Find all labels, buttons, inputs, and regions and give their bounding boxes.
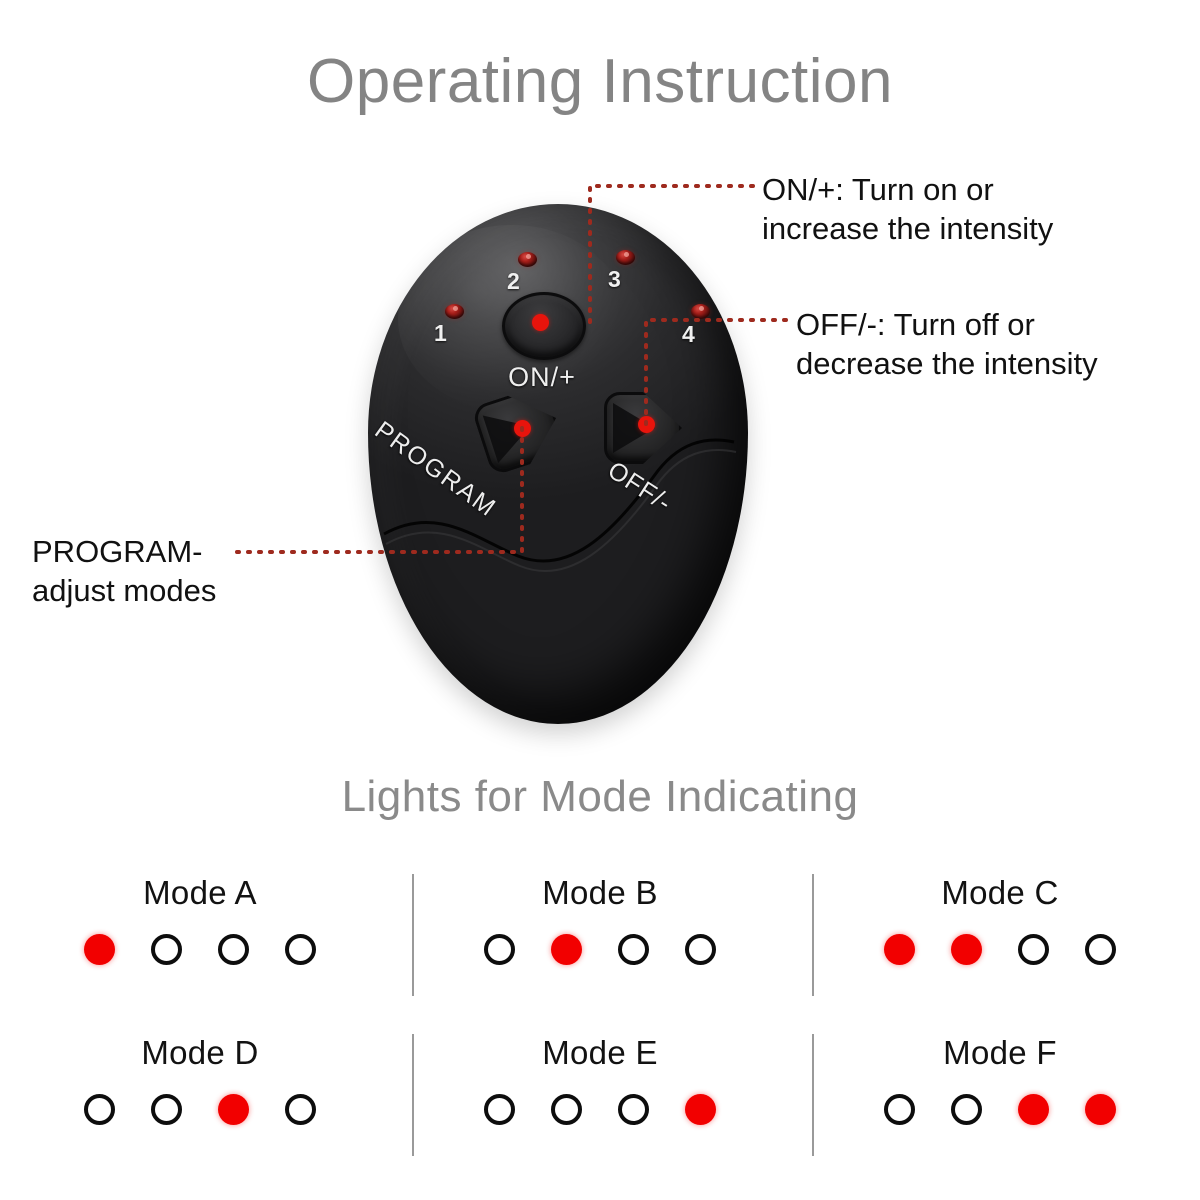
mode-row-1: Mode A Mode B Mode C xyxy=(0,862,1200,1022)
lamp-2 xyxy=(951,934,982,965)
led-number-4: 4 xyxy=(682,321,695,348)
mode-cell-f: Mode F xyxy=(800,1022,1200,1182)
led-indicator-2 xyxy=(518,252,537,267)
lamp-4 xyxy=(685,934,716,965)
callout-off-minus: OFF/-: Turn off or decrease the intensit… xyxy=(796,305,1098,383)
mode-label: Mode B xyxy=(542,874,658,912)
led-number-1: 1 xyxy=(434,320,447,347)
mode-cell-d: Mode D xyxy=(0,1022,400,1182)
mode-row-2: Mode D Mode E Mode F xyxy=(0,1022,1200,1182)
led-number-3: 3 xyxy=(608,266,621,293)
device-illustration: 1 2 3 4 ON/+ PROGRAM OFF/- xyxy=(368,204,748,724)
led-indicator-1 xyxy=(445,304,464,319)
lamp-4 xyxy=(285,1094,316,1125)
section-title-modes: Lights for Mode Indicating xyxy=(0,772,1200,822)
mode-cell-b: Mode B xyxy=(400,862,800,1022)
lamp-row xyxy=(884,934,1116,965)
callout-on-plus: ON/+: Turn on or increase the intensity xyxy=(762,170,1053,248)
lamp-2 xyxy=(151,1094,182,1125)
led-indicator-3 xyxy=(616,250,635,265)
instruction-infographic: Operating Instruction 1 2 3 4 ON/+ PROGR… xyxy=(0,0,1200,1200)
lamp-3 xyxy=(218,934,249,965)
lamp-4 xyxy=(285,934,316,965)
lamp-3 xyxy=(1018,1094,1049,1125)
mode-label: Mode E xyxy=(542,1034,658,1072)
led-number-2: 2 xyxy=(507,268,520,295)
lamp-2 xyxy=(951,1094,982,1125)
lamp-row xyxy=(484,934,716,965)
lamp-1 xyxy=(84,1094,115,1125)
lamp-1 xyxy=(884,934,915,965)
lamp-4 xyxy=(685,1094,716,1125)
lamp-1 xyxy=(884,1094,915,1125)
lamp-1 xyxy=(84,934,115,965)
mode-label: Mode F xyxy=(943,1034,1057,1072)
lamp-1 xyxy=(484,1094,515,1125)
mode-cell-c: Mode C xyxy=(800,862,1200,1022)
lamp-3 xyxy=(218,1094,249,1125)
mode-cell-e: Mode E xyxy=(400,1022,800,1182)
mode-label: Mode C xyxy=(941,874,1058,912)
lamp-4 xyxy=(1085,1094,1116,1125)
lamp-row xyxy=(84,934,316,965)
lamp-2 xyxy=(151,934,182,965)
callout-program: PROGRAM- adjust modes xyxy=(32,532,216,610)
lamp-4 xyxy=(1085,934,1116,965)
program-anchor-dot xyxy=(514,420,531,437)
on-plus-label: ON/+ xyxy=(494,362,590,393)
lamp-row xyxy=(84,1094,316,1125)
mode-cell-a: Mode A xyxy=(0,862,400,1022)
led-indicator-4 xyxy=(691,304,710,319)
lamp-2 xyxy=(551,1094,582,1125)
lamp-3 xyxy=(1018,934,1049,965)
lamp-1 xyxy=(484,934,515,965)
mode-label: Mode D xyxy=(141,1034,258,1072)
mode-label: Mode A xyxy=(143,874,257,912)
mode-indicator-grid: Mode A Mode B Mode C xyxy=(0,862,1200,1182)
lamp-2 xyxy=(551,934,582,965)
off-minus-anchor-dot xyxy=(638,416,655,433)
lamp-3 xyxy=(618,1094,649,1125)
page-title: Operating Instruction xyxy=(0,46,1200,117)
lamp-row xyxy=(484,1094,716,1125)
on-plus-anchor-dot xyxy=(532,314,549,331)
lamp-3 xyxy=(618,934,649,965)
lamp-row xyxy=(884,1094,1116,1125)
